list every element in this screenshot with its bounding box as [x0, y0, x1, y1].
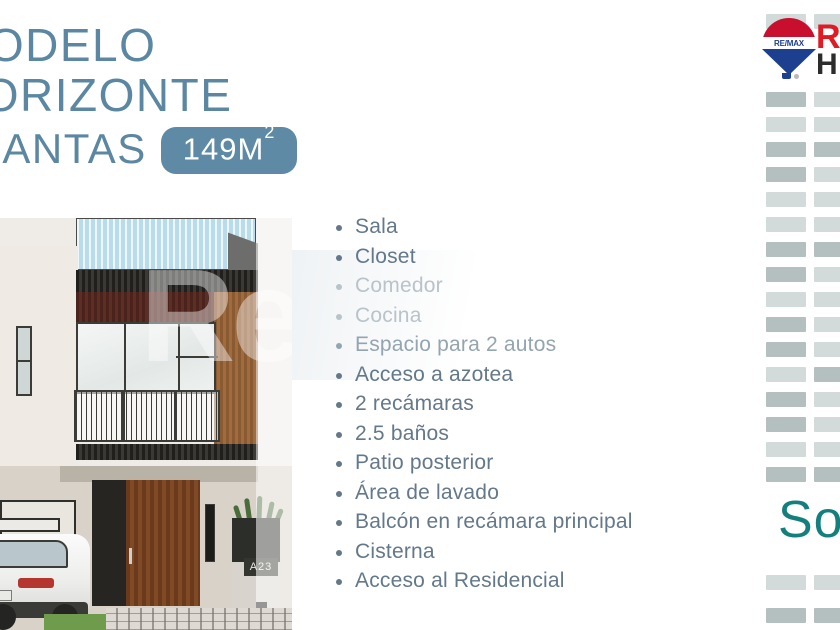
bullet-icon — [336, 373, 342, 379]
placeholder-block — [766, 217, 806, 232]
title-block: MODELO HORIZONTE PLANTAS 149M2 — [0, 24, 348, 172]
feature-item: Sala — [336, 214, 736, 240]
neighbor-wall — [0, 246, 78, 476]
placeholder-block — [814, 292, 840, 307]
placeholder-block — [766, 192, 806, 207]
feature-label: 2.5 baños — [355, 421, 449, 447]
placeholder-block — [766, 392, 806, 407]
feature-item: Espacio para 2 autos — [336, 332, 736, 358]
model-title-line-3: PLANTAS — [0, 129, 147, 169]
bullet-icon — [336, 461, 342, 467]
feature-label: 2 recámaras — [355, 391, 474, 417]
placeholder-block — [814, 117, 840, 132]
house-photo: A23 — [0, 218, 292, 630]
feature-item: Cisterna — [336, 539, 736, 565]
feature-item: 2.5 baños — [336, 421, 736, 447]
model-title-line-2: HORIZONTE — [0, 74, 348, 118]
model-title-line-1: MODELO — [0, 24, 348, 68]
wall-light-slit — [205, 504, 215, 562]
feature-label: Closet — [355, 244, 416, 270]
feature-item: Balcón en recámara principal — [336, 509, 736, 535]
feature-item: Closet — [336, 244, 736, 270]
placeholder-block — [814, 342, 840, 357]
placeholder-block — [814, 392, 840, 407]
suv-license-plate — [0, 590, 12, 601]
roof-shadow — [228, 218, 258, 270]
area-badge-value: 149M — [183, 132, 265, 167]
feature-item: Acceso a azotea — [336, 362, 736, 388]
placeholder-block — [814, 92, 840, 107]
balloon-accent-dot — [794, 74, 799, 79]
neighbor-window — [16, 326, 32, 396]
bullet-icon — [336, 314, 342, 320]
suv-rear-window — [0, 540, 68, 568]
bullet-icon — [336, 550, 342, 556]
feature-label: Balcón en recámara principal — [355, 509, 633, 535]
bullet-icon — [336, 579, 342, 585]
feature-label: Comedor — [355, 273, 443, 299]
feature-label: Espacio para 2 autos — [355, 332, 556, 358]
bullet-icon — [336, 402, 342, 408]
feature-label: Cocina — [355, 303, 422, 329]
feature-item: Acceso al Residencial — [336, 568, 736, 594]
placeholder-block — [766, 467, 806, 482]
placeholder-block — [814, 608, 840, 623]
feature-item: 2 recámaras — [336, 391, 736, 417]
photo-edge-fade — [256, 218, 292, 608]
placeholder-block — [766, 442, 806, 457]
feature-list: SalaClosetComedorCocinaEspacio para 2 au… — [336, 214, 736, 598]
feature-label: Acceso al Residencial — [355, 568, 565, 594]
placeholder-block — [766, 117, 806, 132]
suv-tail-light — [18, 578, 54, 588]
door-handle — [129, 548, 132, 564]
area-badge: 149M2 — [161, 127, 298, 173]
bullet-icon — [336, 284, 342, 290]
placeholder-block — [766, 92, 806, 107]
feature-label: Área de lavado — [355, 480, 499, 506]
placeholder-block — [814, 417, 840, 432]
feature-item: Comedor — [336, 273, 736, 299]
feature-label: Patio posterior — [355, 450, 493, 476]
placeholder-block — [766, 608, 806, 623]
driveway-paver-joints — [106, 608, 292, 630]
remax-balloon-icon: RE/MAX — [760, 18, 818, 80]
bullet-icon — [336, 255, 342, 261]
placeholder-block — [814, 192, 840, 207]
placeholder-block — [766, 317, 806, 332]
placeholder-block — [766, 417, 806, 432]
placeholder-block — [814, 217, 840, 232]
feature-item: Área de lavado — [336, 480, 736, 506]
balcony-railing — [74, 390, 220, 442]
placeholder-block — [814, 242, 840, 257]
upper-window-divider — [176, 322, 218, 358]
placeholder-block — [766, 242, 806, 257]
listing-flyer: MODELO HORIZONTE PLANTAS 149M2 — [0, 0, 840, 630]
bullet-icon — [336, 343, 342, 349]
right-wood-cladding — [214, 292, 258, 458]
mid-dark-band — [76, 444, 258, 460]
placeholder-block — [814, 367, 840, 382]
balloon-bottom-blue — [762, 49, 816, 75]
feature-label: Acceso a azotea — [355, 362, 513, 388]
area-badge-superscript: 2 — [264, 122, 275, 142]
placeholder-block — [766, 267, 806, 282]
title-row-plantas: PLANTAS 149M2 — [0, 125, 348, 171]
balloon-band: RE/MAX — [762, 37, 816, 50]
feature-item: Cocina — [336, 303, 736, 329]
bullet-icon — [336, 225, 342, 231]
placeholder-block — [814, 317, 840, 332]
placeholder-block — [814, 442, 840, 457]
placeholder-block — [766, 292, 806, 307]
balcony-railing-post-2 — [174, 390, 177, 442]
balloon-wordmark: RE/MAX — [774, 39, 804, 48]
side-teal-text: So — [778, 494, 840, 546]
feature-item: Patio posterior — [336, 450, 736, 476]
front-door — [126, 480, 200, 606]
placeholder-block — [814, 167, 840, 182]
placeholder-block — [766, 342, 806, 357]
placeholder-block — [814, 467, 840, 482]
upper-dark-band — [76, 270, 258, 292]
feature-label: Cisterna — [355, 539, 435, 565]
placeholder-block — [814, 267, 840, 282]
placeholder-block — [766, 575, 806, 590]
balcony-railing-post-1 — [122, 390, 125, 442]
brand-letter-h: H — [816, 50, 838, 80]
feature-label: Sala — [355, 214, 398, 240]
bullet-icon — [336, 432, 342, 438]
placeholder-block — [766, 367, 806, 382]
placeholder-block — [814, 142, 840, 157]
car-roof-rack — [0, 518, 60, 532]
placeholder-block — [766, 142, 806, 157]
bullet-icon — [336, 520, 342, 526]
placeholder-block — [814, 575, 840, 590]
bullet-icon — [336, 491, 342, 497]
placeholder-block — [766, 167, 806, 182]
balloon-basket — [782, 73, 791, 79]
